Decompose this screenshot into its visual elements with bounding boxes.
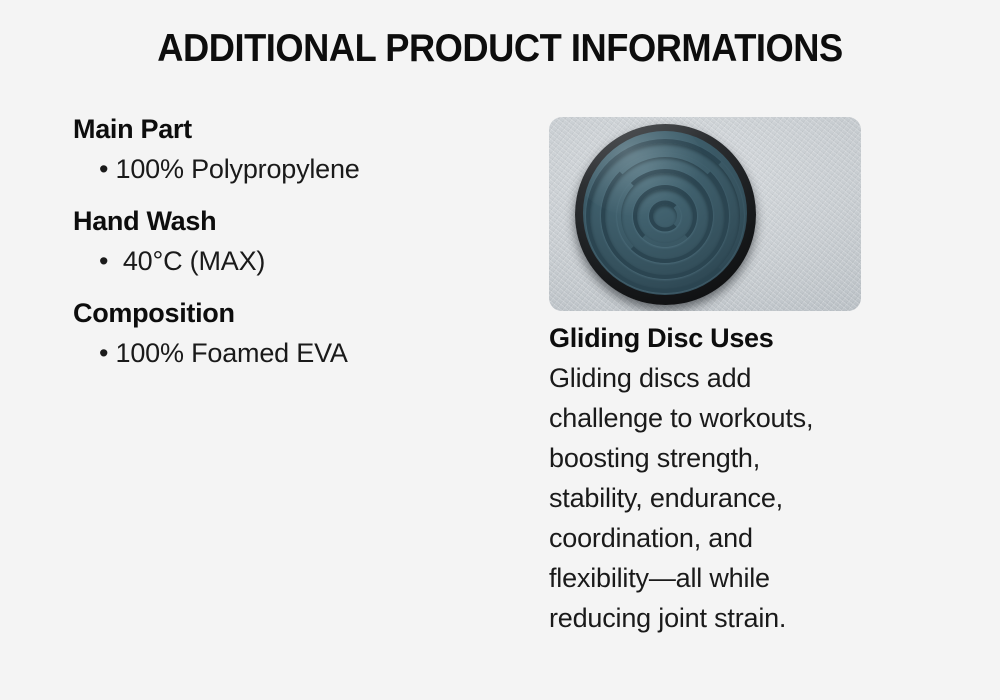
uses-description: Gliding discs add challenge to workouts,… [549, 358, 929, 638]
spec-group-composition: Composition • 100% Foamed EVA [73, 296, 503, 370]
specifications-list: Main Part • 100% Polypropylene Hand Wash… [73, 112, 503, 370]
spec-item-hand-wash: • 40°C (MAX) [99, 244, 503, 278]
product-detail-column: Gliding Disc Uses Gliding discs add chal… [549, 117, 929, 638]
spec-item-main-part: • 100% Polypropylene [99, 152, 503, 186]
spec-group-hand-wash: Hand Wash • 40°C (MAX) [73, 204, 503, 278]
gliding-disc-icon [575, 124, 756, 305]
spec-heading-main-part: Main Part [73, 112, 503, 146]
spec-group-main-part: Main Part • 100% Polypropylene [73, 112, 503, 186]
disc-face [583, 131, 747, 295]
spec-item-composition: • 100% Foamed EVA [99, 336, 503, 370]
page-title: ADDITIONAL PRODUCT INFORMATIONS [35, 26, 965, 72]
spec-heading-hand-wash: Hand Wash [73, 204, 503, 238]
uses-heading: Gliding Disc Uses [549, 322, 929, 355]
gliding-disc-photo [549, 117, 861, 311]
spec-heading-composition: Composition [73, 296, 503, 330]
disc-groove-ring-1 [649, 201, 681, 232]
